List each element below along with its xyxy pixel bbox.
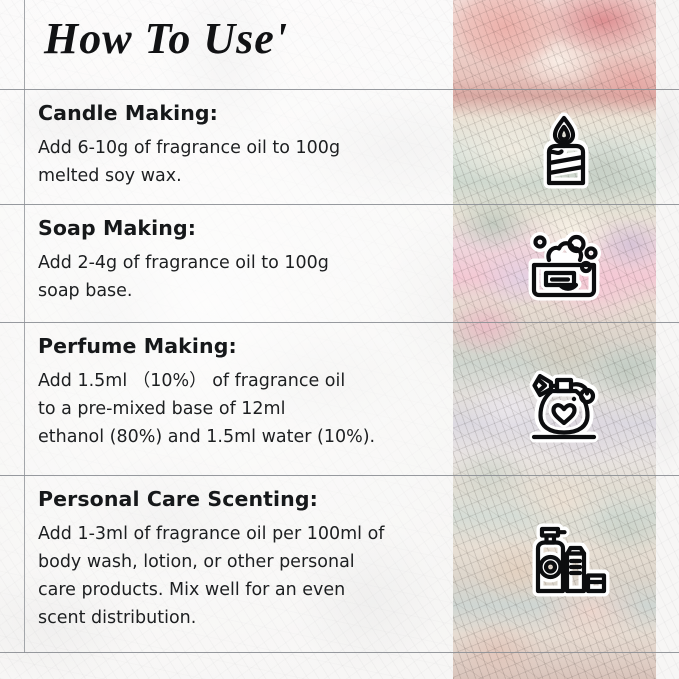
perfume-bottle-icon: [518, 360, 610, 452]
section-perfume-making: Perfume Making: Add 1.5ml （10%） of fragr…: [38, 334, 438, 451]
page-title: How To Use': [44, 13, 288, 64]
section-heading: Candle Making:: [38, 101, 438, 125]
left-vertical-rule: [24, 0, 25, 653]
section-heading: Perfume Making:: [38, 334, 438, 358]
section-body: Add 1-3ml of fragrance oil per 100ml of …: [38, 520, 438, 632]
section-personal-care-scenting: Personal Care Scenting: Add 1-3ml of fra…: [38, 487, 438, 632]
divider-after-perfume: [0, 475, 679, 476]
divider-after-candle: [0, 204, 679, 205]
section-candle-making: Candle Making: Add 6-10g of fragrance oi…: [38, 101, 438, 190]
candle-icon: [518, 105, 610, 197]
how-to-use-infographic: How To Use' Candle Making: Add 6-10g of …: [0, 0, 679, 679]
section-heading: Soap Making:: [38, 216, 438, 240]
personal-care-products-icon: [518, 515, 610, 607]
section-body: Add 2-4g of fragrance oil to 100g soap b…: [38, 249, 438, 305]
section-body: Add 6-10g of fragrance oil to 100g melte…: [38, 134, 438, 190]
divider-after-personal-care: [0, 652, 679, 653]
section-heading: Personal Care Scenting:: [38, 487, 438, 511]
section-body: Add 1.5ml （10%） of fragrance oil to a pr…: [38, 367, 438, 451]
right-edge-texture: [656, 0, 679, 679]
divider-after-title: [0, 89, 679, 90]
divider-after-soap: [0, 322, 679, 323]
section-soap-making: Soap Making: Add 2-4g of fragrance oil t…: [38, 216, 438, 305]
soap-bar-icon: [518, 220, 610, 312]
